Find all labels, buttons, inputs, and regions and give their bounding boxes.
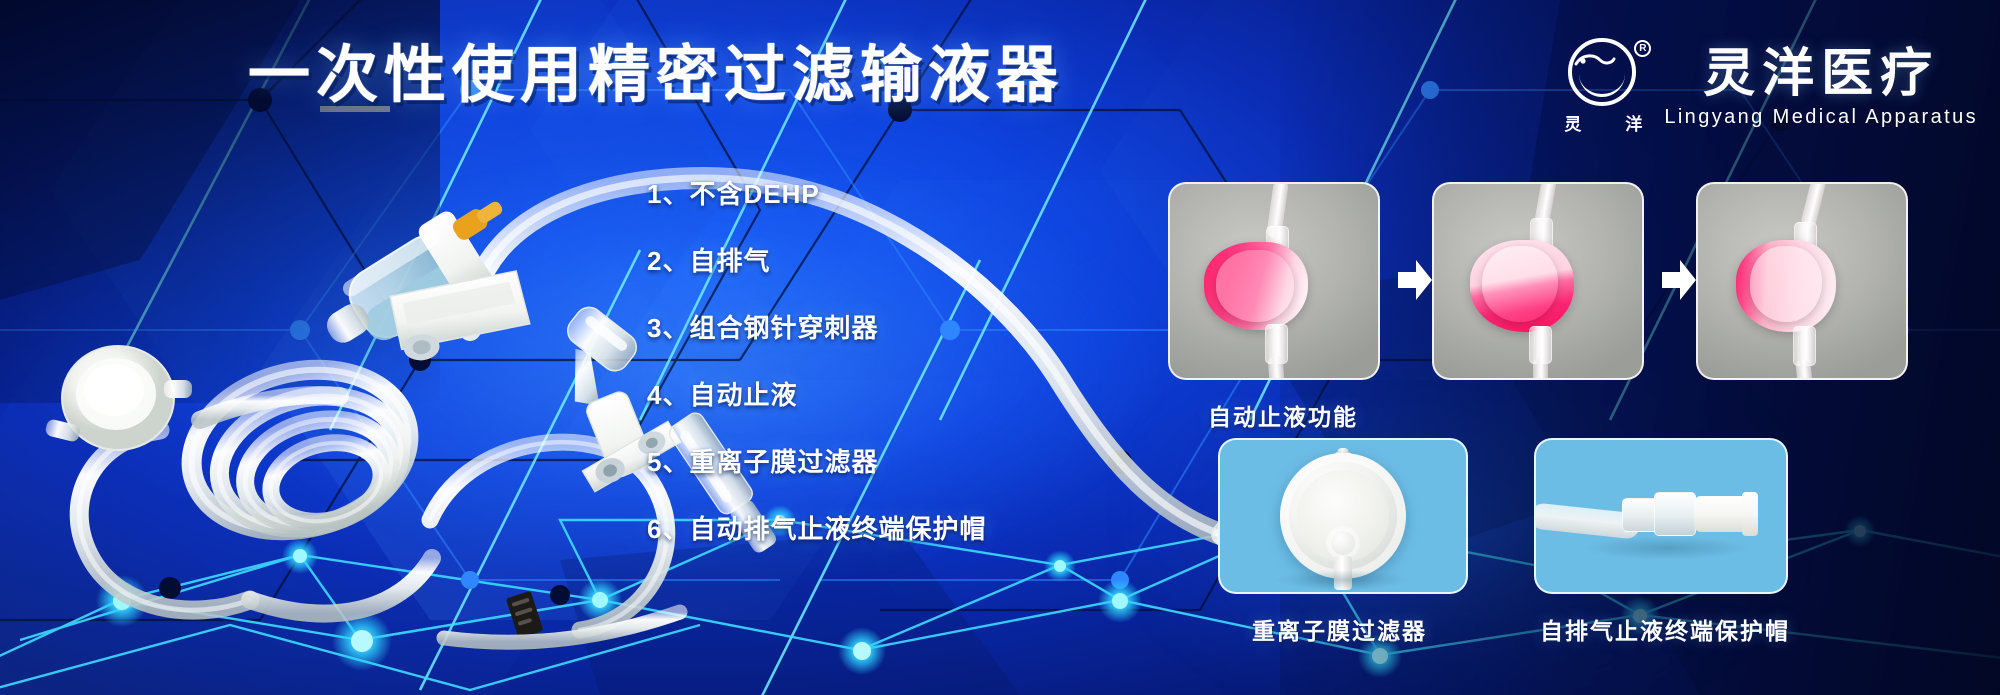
sequence-panel-1 [1168,182,1380,380]
seal-circle-icon [1568,38,1636,106]
drip-chamber-photo-1 [1170,184,1378,378]
registered-trademark-icon: R [1634,40,1651,57]
banner-root: 一次性使用精密过滤输液器 R 灵 洋 灵洋医疗 Lingyang Medical… [0,0,2000,695]
feature-item-1: 1、不含DEHP [647,174,977,211]
cap-device-photo [1536,440,1786,592]
feature-item-6: 6、自动排气止液终端保护帽 [647,509,977,546]
sequence-caption: 自动止液功能 [1208,398,1358,432]
brand-seal-mark: R 灵 洋 [1564,38,1648,142]
brand-name-cn: 灵洋医疗 [1703,47,1939,102]
seal-char-left: 灵 [1564,110,1581,135]
seal-wave-icon [1574,52,1616,72]
filter-device-photo [1220,440,1466,592]
drip-chamber-photo-2 [1434,184,1642,378]
feature-item-4: 4、自动止液 [647,375,977,412]
feature-item-2: 2、自排气 [647,241,977,278]
cap-panel [1534,438,1788,594]
filter-caption: 重离子膜过滤器 [1252,612,1427,646]
brand-name-en: Lingyang Medical Apparatus [1664,106,1978,129]
feature-item-5: 5、重离子膜过滤器 [647,442,977,479]
feature-item-3: 3、组合钢针穿刺器 [647,308,977,345]
sequence-panel-3 [1696,182,1908,380]
arrow-right-icon-1 [1398,258,1432,302]
drip-chamber-photo-3 [1698,184,1906,378]
page-title: 一次性使用精密过滤输液器 [248,45,1064,107]
sequence-panel-2 [1432,182,1644,380]
cap-caption: 自排气止液终端保护帽 [1540,612,1790,646]
feature-list: 1、不含DEHP 2、自排气 3、组合钢针穿刺器 4、自动止液 5、重离子膜过滤… [647,174,977,546]
arrow-right-icon-2 [1662,258,1696,302]
seal-char-right: 洋 [1625,110,1642,135]
brand-logo: R 灵 洋 灵洋医疗 Lingyang Medical Apparatus [1564,38,1978,142]
brand-name-block: 灵洋医疗 Lingyang Medical Apparatus [1664,47,1978,133]
seal-characters: 灵 洋 [1564,110,1642,135]
filter-panel [1218,438,1468,594]
